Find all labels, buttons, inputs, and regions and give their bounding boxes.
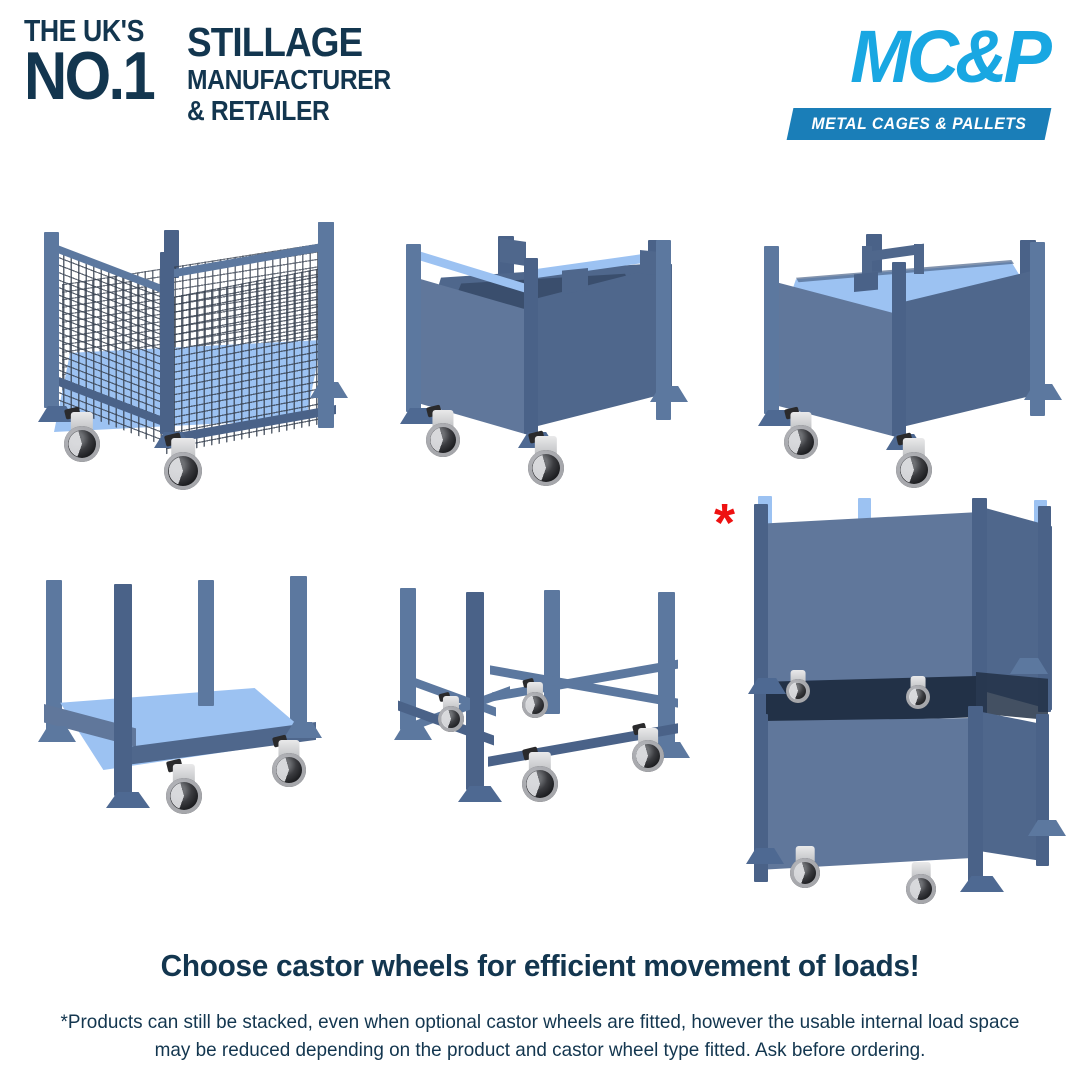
post-front-left xyxy=(406,244,421,412)
castor-wheel-right xyxy=(632,728,664,776)
product-image-mesh-sided-stillage-cage xyxy=(18,220,358,490)
post-front-left xyxy=(466,592,484,790)
upper-castor-center xyxy=(906,676,930,712)
product-illustration xyxy=(738,228,1068,478)
product-illustration xyxy=(382,570,702,830)
castor-wheel-front xyxy=(166,764,202,818)
asterisk-marker: * xyxy=(714,496,735,550)
castor-hub xyxy=(522,692,548,718)
lower-post-right xyxy=(1036,714,1049,866)
foot-front-left xyxy=(106,792,150,808)
castor-hub xyxy=(632,740,664,772)
castor-wheel-center xyxy=(896,438,932,490)
castor-hub xyxy=(426,423,460,457)
headline-retailer: & RETAILER xyxy=(187,97,330,125)
post-front-center xyxy=(892,262,906,436)
poster-canvas: THE UK'S NO.1 STILLAGE MANUFACTURER & RE… xyxy=(0,0,1080,1080)
lower-post-center xyxy=(968,706,983,886)
castor-wheel-rear-right xyxy=(522,682,548,720)
product-illustration xyxy=(18,220,358,490)
product-illustration: * xyxy=(710,490,1080,910)
castor-wheel-left xyxy=(784,412,818,462)
post-front-center xyxy=(524,258,538,434)
castor-hub xyxy=(164,452,202,490)
brand-logo: MC&P METAL CAGES & PALLETS xyxy=(778,22,1048,140)
product-image-stacked-stillages: * xyxy=(710,490,1080,910)
castor-wheel-rear-left xyxy=(438,696,464,734)
castor-hub xyxy=(906,874,936,904)
lid-latch xyxy=(854,272,878,292)
headline-manufacturer: MANUFACTURER xyxy=(187,66,391,94)
logo-banner-text: METAL CAGES & PALLETS xyxy=(812,115,1027,134)
product-illustration xyxy=(378,228,698,478)
lid-handle-right-leg xyxy=(914,244,924,274)
castor-hub xyxy=(896,452,932,488)
castor-hub xyxy=(522,766,558,802)
product-illustration xyxy=(18,570,358,830)
headline-no1: NO.1 xyxy=(24,47,153,105)
castor-wheel-left xyxy=(64,412,100,464)
post-front-center xyxy=(160,252,174,434)
headline-block: THE UK'S NO.1 STILLAGE MANUFACTURER & RE… xyxy=(24,18,418,125)
headline-left: THE UK'S NO.1 xyxy=(24,18,171,105)
frame-stringer-center xyxy=(470,692,484,752)
logo-banner: METAL CAGES & PALLETS xyxy=(787,108,1052,140)
castor-hub xyxy=(786,679,810,703)
upper-castor-left xyxy=(786,670,810,706)
product-image-post-pallet-solid-deck xyxy=(18,570,358,830)
product-image-lidded-stillage xyxy=(738,228,1068,478)
header: THE UK'S NO.1 STILLAGE MANUFACTURER & RE… xyxy=(0,0,1080,165)
post-back-right xyxy=(290,576,307,728)
castor-hub xyxy=(438,706,464,732)
castor-hub xyxy=(166,778,202,814)
tagline: Choose castor wheels for efficient movem… xyxy=(22,948,1059,984)
castor-wheel-front xyxy=(522,752,558,806)
foot-front-left xyxy=(458,786,502,802)
stacking-lug-left xyxy=(500,238,526,266)
logo-wordmark: MC&P xyxy=(783,22,1048,92)
castor-hub xyxy=(784,425,818,459)
post-front-left xyxy=(114,584,132,796)
castor-wheel-center xyxy=(164,438,202,492)
footer: Choose castor wheels for efficient movem… xyxy=(0,930,1080,1080)
stack-gap-shadow-right xyxy=(976,672,1048,720)
product-image-post-pallet-open-frame xyxy=(382,570,702,830)
castor-wheel-right xyxy=(272,740,306,790)
castor-hub xyxy=(64,426,100,462)
castor-wheel-left xyxy=(426,410,460,460)
castor-hub xyxy=(906,685,930,709)
castor-hub xyxy=(528,450,564,486)
disclaimer-text: *Products can still be stacked, even whe… xyxy=(50,1008,1030,1065)
product-grid: * xyxy=(0,170,1080,930)
post-front-right xyxy=(198,580,214,706)
headline-right: STILLAGE MANUFACTURER & RETAILER xyxy=(187,22,419,125)
castor-hub xyxy=(272,753,306,787)
post-front-left xyxy=(764,246,779,414)
castor-hub xyxy=(790,858,820,888)
lower-castor-center xyxy=(906,862,936,908)
lower-foot-center xyxy=(960,876,1004,892)
product-image-solid-sided-open-stillage xyxy=(378,228,698,478)
post-front-left xyxy=(44,232,59,408)
lower-castor-left xyxy=(790,846,820,892)
stacking-lug-center xyxy=(562,268,588,294)
headline-stillage: STILLAGE xyxy=(187,22,362,63)
castor-wheel-center xyxy=(528,436,564,488)
